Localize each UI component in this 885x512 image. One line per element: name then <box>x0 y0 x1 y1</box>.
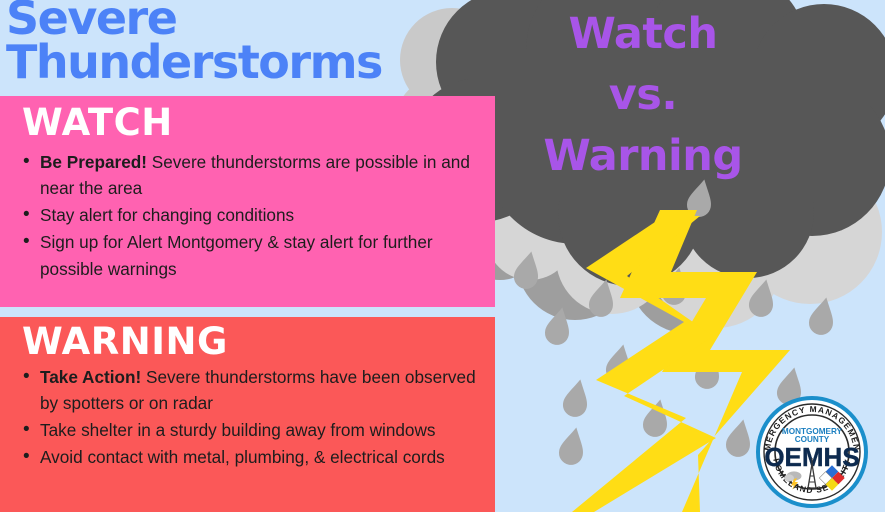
page-title: Severe Thunderstorms <box>6 0 476 84</box>
bullet-text: Stay alert for changing conditions <box>40 205 294 225</box>
list-item: Avoid contact with metal, plumbing, & el… <box>40 444 481 470</box>
list-item: Take Action! Severe thunderstorms have b… <box>40 364 481 416</box>
raindrop-icon <box>557 425 588 467</box>
bullet-text: Take shelter in a sturdy building away f… <box>40 420 436 440</box>
vs-line-2: vs. <box>513 65 773 126</box>
warning-heading: WARNING <box>0 317 495 362</box>
bullet-text: Avoid contact with metal, plumbing, & el… <box>40 447 445 467</box>
list-item: Sign up for Alert Montgomery & stay aler… <box>40 229 481 281</box>
bullet-lead: Take Action! <box>40 367 141 387</box>
bullet-lead: Be Prepared! <box>40 152 147 172</box>
bullet-text: Sign up for Alert Montgomery & stay aler… <box>40 232 433 278</box>
watch-bullet-list: Be Prepared! Severe thunderstorms are po… <box>0 149 495 282</box>
poster-canvas: Severe Thunderstorms WATCH Be Prepared! … <box>0 0 885 512</box>
list-item: Take shelter in a sturdy building away f… <box>40 417 481 443</box>
list-item: Stay alert for changing conditions <box>40 202 481 228</box>
list-item: Be Prepared! Severe thunderstorms are po… <box>40 149 481 201</box>
vs-line-3: Warning <box>513 126 773 187</box>
watch-heading: WATCH <box>0 96 495 143</box>
oemhs-logo: EMERGENCY MANAGEMENT HOMELAND SECURITY M… <box>756 396 868 508</box>
watch-vs-warning-heading: Watch vs. Warning <box>513 4 773 187</box>
warning-panel: WARNING Take Action! Severe thunderstorm… <box>0 317 495 512</box>
warning-bullet-list: Take Action! Severe thunderstorms have b… <box>0 364 495 471</box>
title-line-2: Thunderstorms <box>6 40 476 84</box>
vs-line-1: Watch <box>513 4 773 65</box>
watch-panel: WATCH Be Prepared! Severe thunderstorms … <box>0 96 495 307</box>
raindrop-icon <box>724 417 755 459</box>
